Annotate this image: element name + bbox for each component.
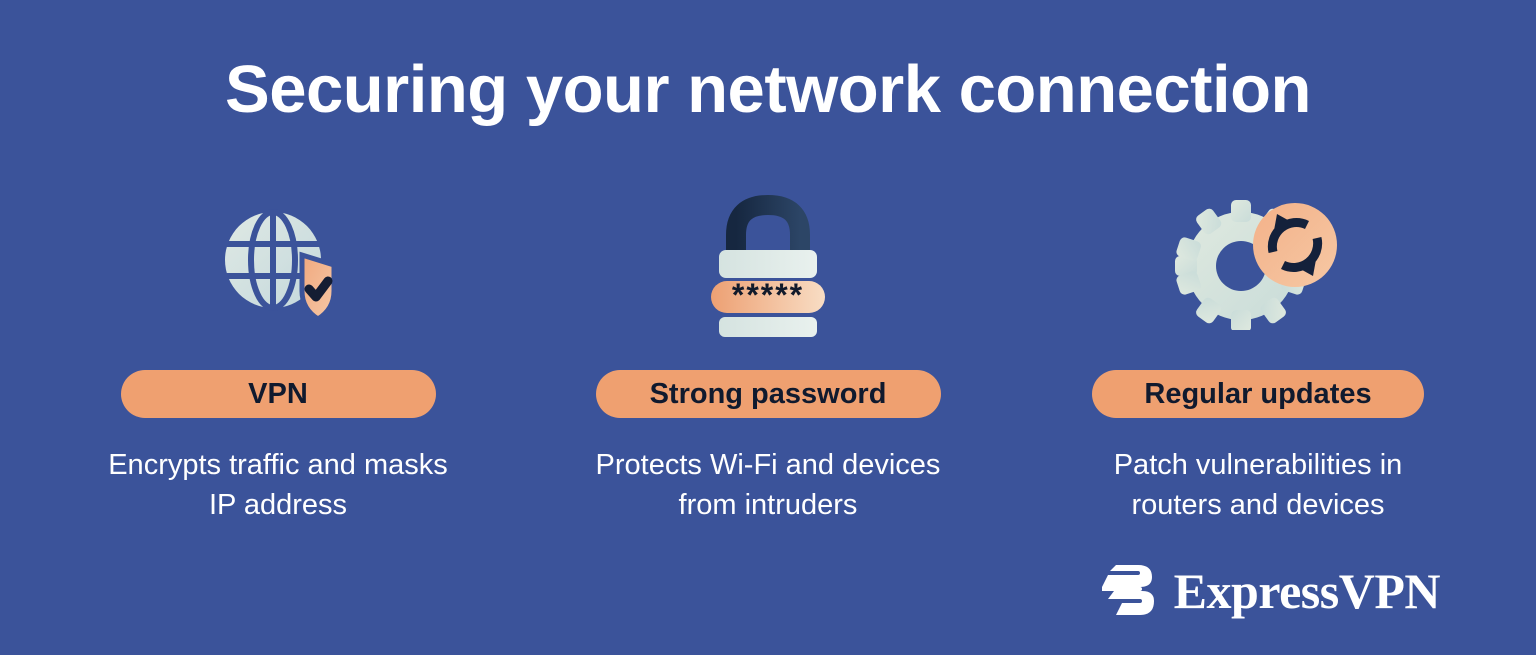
padlock-password-icon: ***** <box>703 190 833 340</box>
card-vpn: VPN Encrypts traffic and masks IP addres… <box>58 190 498 525</box>
cards-row: VPN Encrypts traffic and masks IP addres… <box>58 190 1478 525</box>
svg-text:*****: ***** <box>732 277 804 313</box>
pill-label-vpn[interactable]: VPN <box>121 370 436 418</box>
infographic-poster: Securing your network connection <box>0 0 1536 655</box>
page-title: Securing your network connection <box>0 56 1536 123</box>
card-description-regular-updates: Patch vulnerabilities in routers and dev… <box>1078 445 1438 525</box>
pill-label-strong-password[interactable]: Strong password <box>596 370 941 418</box>
expressvpn-wordmark: ExpressVPN <box>1174 566 1440 616</box>
expressvpn-e-mark-icon <box>1094 559 1158 623</box>
globe-shield-check-icon <box>216 190 340 340</box>
expressvpn-logo: ExpressVPN <box>1094 559 1440 623</box>
pill-label-regular-updates[interactable]: Regular updates <box>1092 370 1424 418</box>
card-strong-password: ***** Strong password Protects Wi-Fi and… <box>548 190 988 525</box>
card-description-strong-password: Protects Wi-Fi and devices from intruder… <box>588 445 948 525</box>
card-description-vpn: Encrypts traffic and masks IP address <box>98 445 458 525</box>
card-regular-updates: Regular updates Patch vulnerabilities in… <box>1038 190 1478 525</box>
gear-refresh-icon <box>1173 190 1343 340</box>
